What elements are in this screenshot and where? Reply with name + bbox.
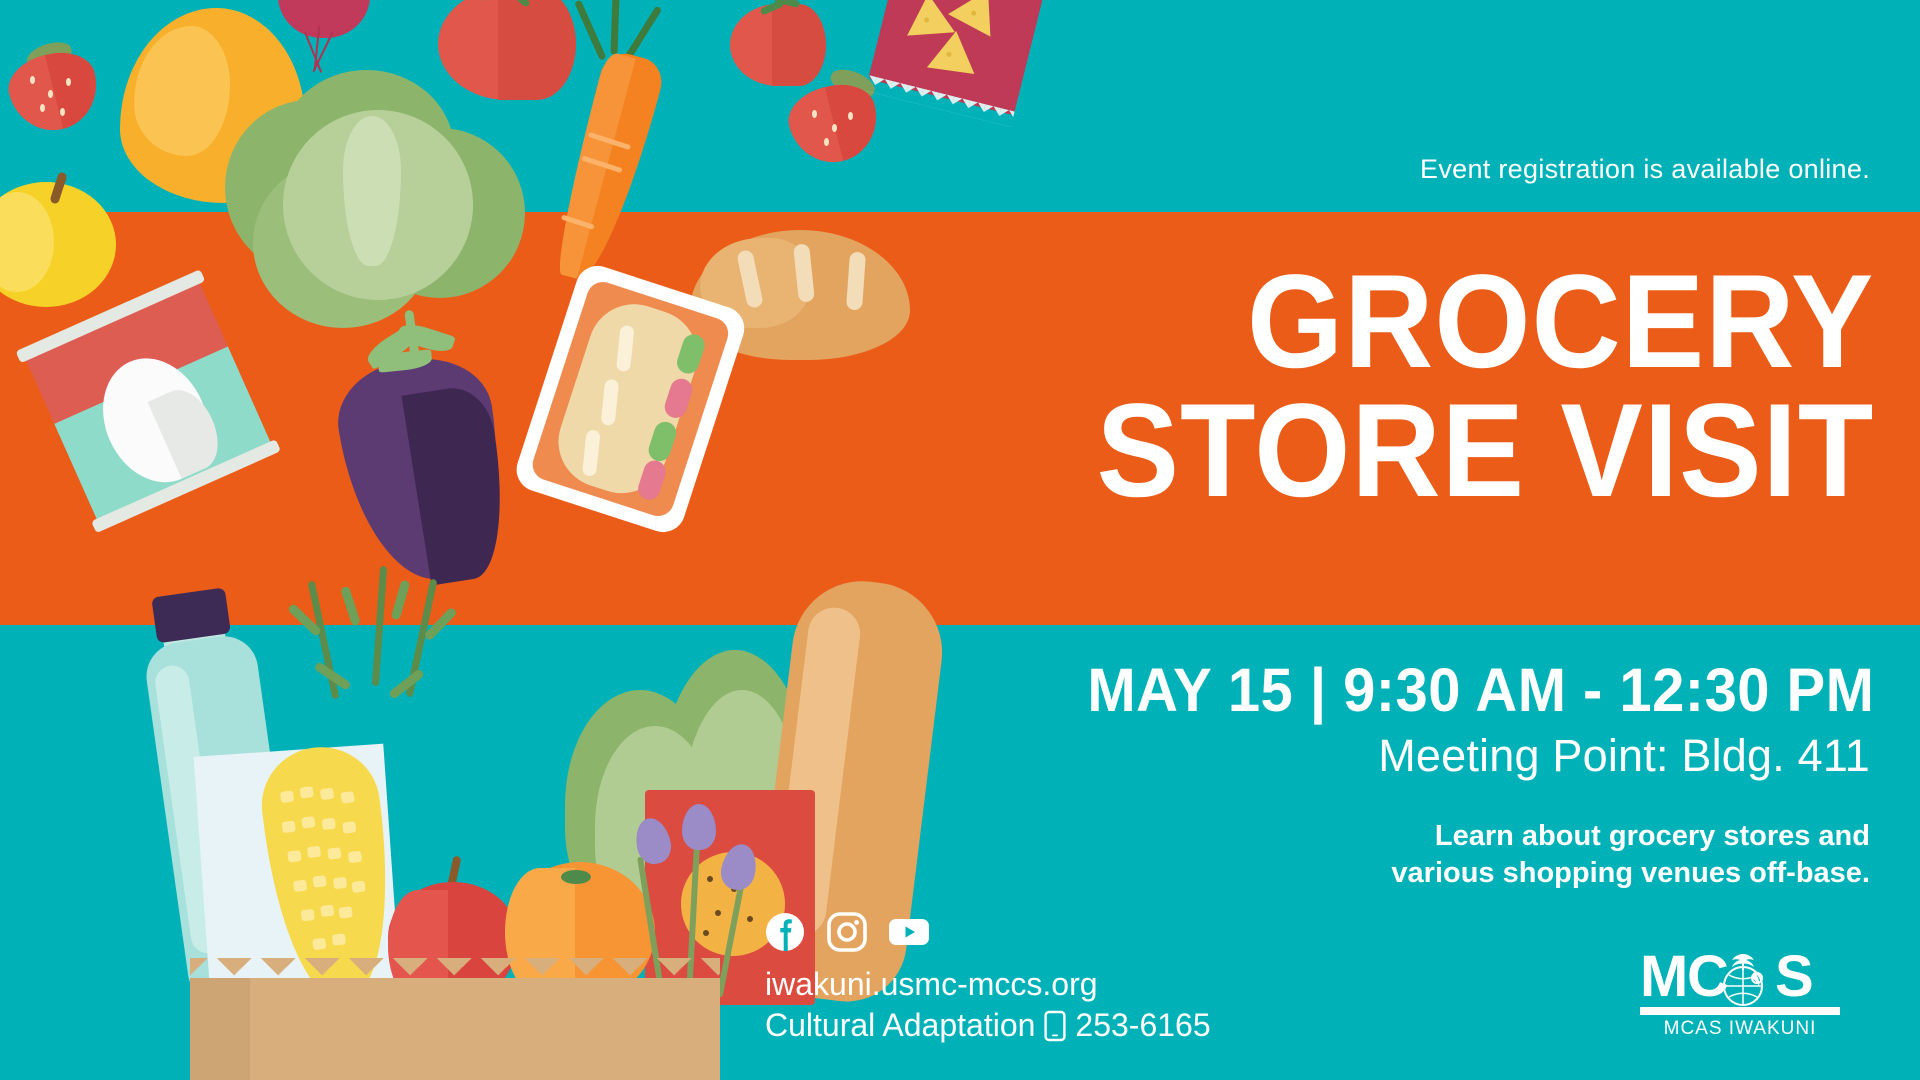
logo-divider-bar — [1640, 1007, 1840, 1015]
event-date-time: MAY 15 | 9:30 AM - 12:30 PM — [1087, 655, 1874, 725]
eggplant-icon — [320, 300, 520, 580]
meeting-point: Meeting Point: Bldg. 411 — [1378, 730, 1870, 782]
chips-bag-icon — [861, 0, 1074, 150]
mccs-logo: M C C S MCAS IWAKUNI — [1640, 950, 1840, 1045]
cabbage-icon — [225, 70, 525, 330]
instagram-icon[interactable] — [827, 912, 867, 952]
page-title: GROCERY STORE VISIT — [1038, 258, 1874, 516]
title-line-2: STORE VISIT — [1096, 387, 1874, 516]
eagle-globe-anchor-icon — [1712, 948, 1774, 1010]
event-description: Learn about grocery stores and various s… — [1391, 818, 1870, 892]
youtube-icon[interactable] — [889, 912, 929, 952]
department-label: Cultural Adaptation — [765, 1005, 1035, 1046]
phone-number[interactable]: 253-6165 — [1075, 1005, 1210, 1046]
event-poster: Event registration is available online. … — [0, 0, 1920, 1080]
registration-note: Event registration is available online. — [1420, 154, 1870, 185]
contact-block: iwakuni.usmc-mccs.org Cultural Adaptatio… — [765, 912, 1211, 1046]
description-line-2: various shopping venues off-base. — [1391, 855, 1870, 892]
social-links — [765, 912, 1211, 952]
phone-row: Cultural Adaptation 253-6165 — [765, 1005, 1211, 1046]
logo-letter-s: S — [1775, 950, 1813, 1004]
mobile-phone-icon — [1044, 1008, 1066, 1042]
mccs-wordmark: M C C S — [1640, 950, 1840, 1004]
strawberry-icon — [10, 38, 98, 130]
yellow-apple-icon — [0, 172, 116, 307]
facebook-icon[interactable] — [765, 912, 805, 952]
logo-letter-m: M — [1640, 950, 1687, 1004]
title-line-1: GROCERY — [1096, 258, 1874, 387]
description-line-1: Learn about grocery stores and — [1391, 818, 1870, 855]
contact-lines: iwakuni.usmc-mccs.org Cultural Adaptatio… — [765, 964, 1211, 1046]
website-link[interactable]: iwakuni.usmc-mccs.org — [765, 964, 1211, 1005]
paper-grocery-bag — [150, 560, 740, 1080]
logo-subtitle: MCAS IWAKUNI — [1640, 1018, 1840, 1040]
